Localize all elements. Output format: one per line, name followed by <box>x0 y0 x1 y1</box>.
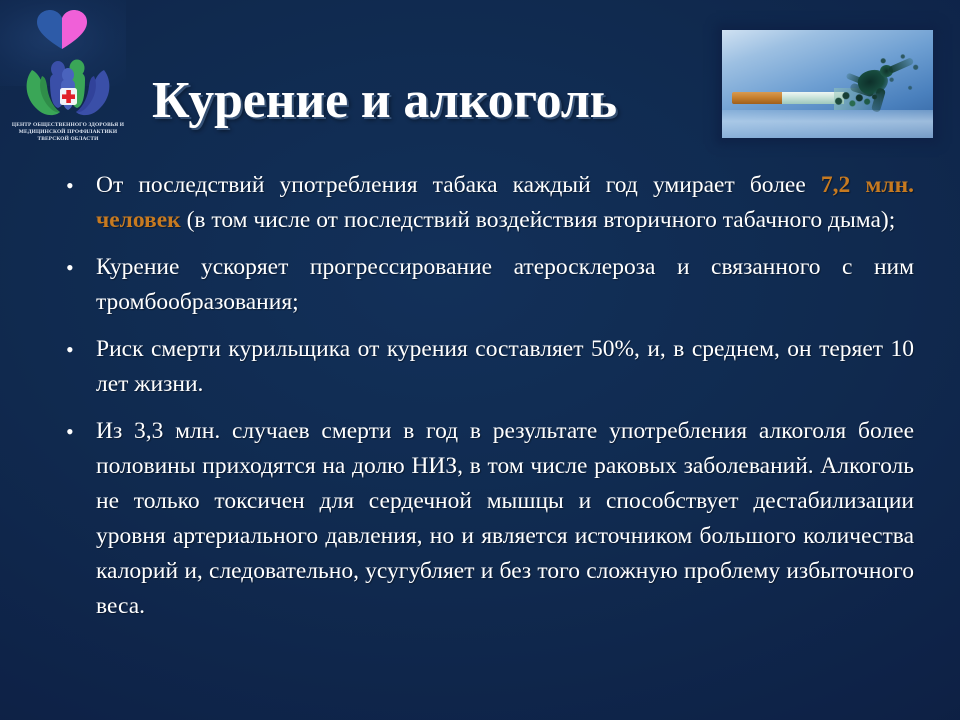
cigarette-dissolving-into-runner-photo <box>722 30 933 138</box>
bullet-text-segment: (в том числе от последствий воздействия … <box>181 207 896 233</box>
photo-floor <box>722 110 933 138</box>
slide-title: Курение и алкоголь <box>152 71 712 131</box>
bullet-text: Из 3,3 млн. случаев смерти в год в резул… <box>96 414 914 624</box>
bullet-text: Курение ускоряет прогрессирование атерос… <box>96 250 914 320</box>
heart-logo-icon <box>34 8 90 50</box>
bullet-text-segment: Риск смерти курильщика от курения состав… <box>96 336 914 397</box>
cigarette-filter <box>732 92 784 104</box>
bullet-item: •Из 3,3 млн. случаев смерти в год в резу… <box>58 414 914 624</box>
bullet-marker-icon: • <box>58 168 96 203</box>
bullet-item: •Курение ускоряет прогрессирование атеро… <box>58 250 914 320</box>
logo-caption-line-3: ТВЕРСКОЙ ОБЛАСТИ <box>4 136 132 143</box>
bullet-list: •От последствий употребления табака кажд… <box>58 168 914 636</box>
bullet-marker-icon: • <box>58 414 96 449</box>
bullet-marker-icon: • <box>58 332 96 367</box>
bullet-text: От последствий употребления табака кажды… <box>96 168 914 238</box>
slide-canvas: ЦЕНТР ОБЩЕСТВЕННОГО ЗДОРОВЬЯ И МЕДИЦИНСК… <box>0 0 960 720</box>
bullet-marker-icon: • <box>58 250 96 285</box>
logo-caption: ЦЕНТР ОБЩЕСТВЕННОГО ЗДОРОВЬЯ И МЕДИЦИНСК… <box>4 122 132 144</box>
bullet-item: •От последствий употребления табака кажд… <box>58 168 914 238</box>
bullet-item: •Риск смерти курильщика от курения соста… <box>58 332 914 402</box>
bullet-text-segment: От последствий употребления табака кажды… <box>96 172 821 198</box>
photo-spray-particles <box>872 50 928 104</box>
health-center-emblem-icon <box>22 56 114 118</box>
bullet-text-segment: Курение ускоряет прогрессирование атерос… <box>96 254 914 315</box>
bullet-text: Риск смерти курильщика от курения состав… <box>96 332 914 402</box>
bullet-text-segment: Из 3,3 млн. случаев смерти в год в резул… <box>96 418 914 619</box>
